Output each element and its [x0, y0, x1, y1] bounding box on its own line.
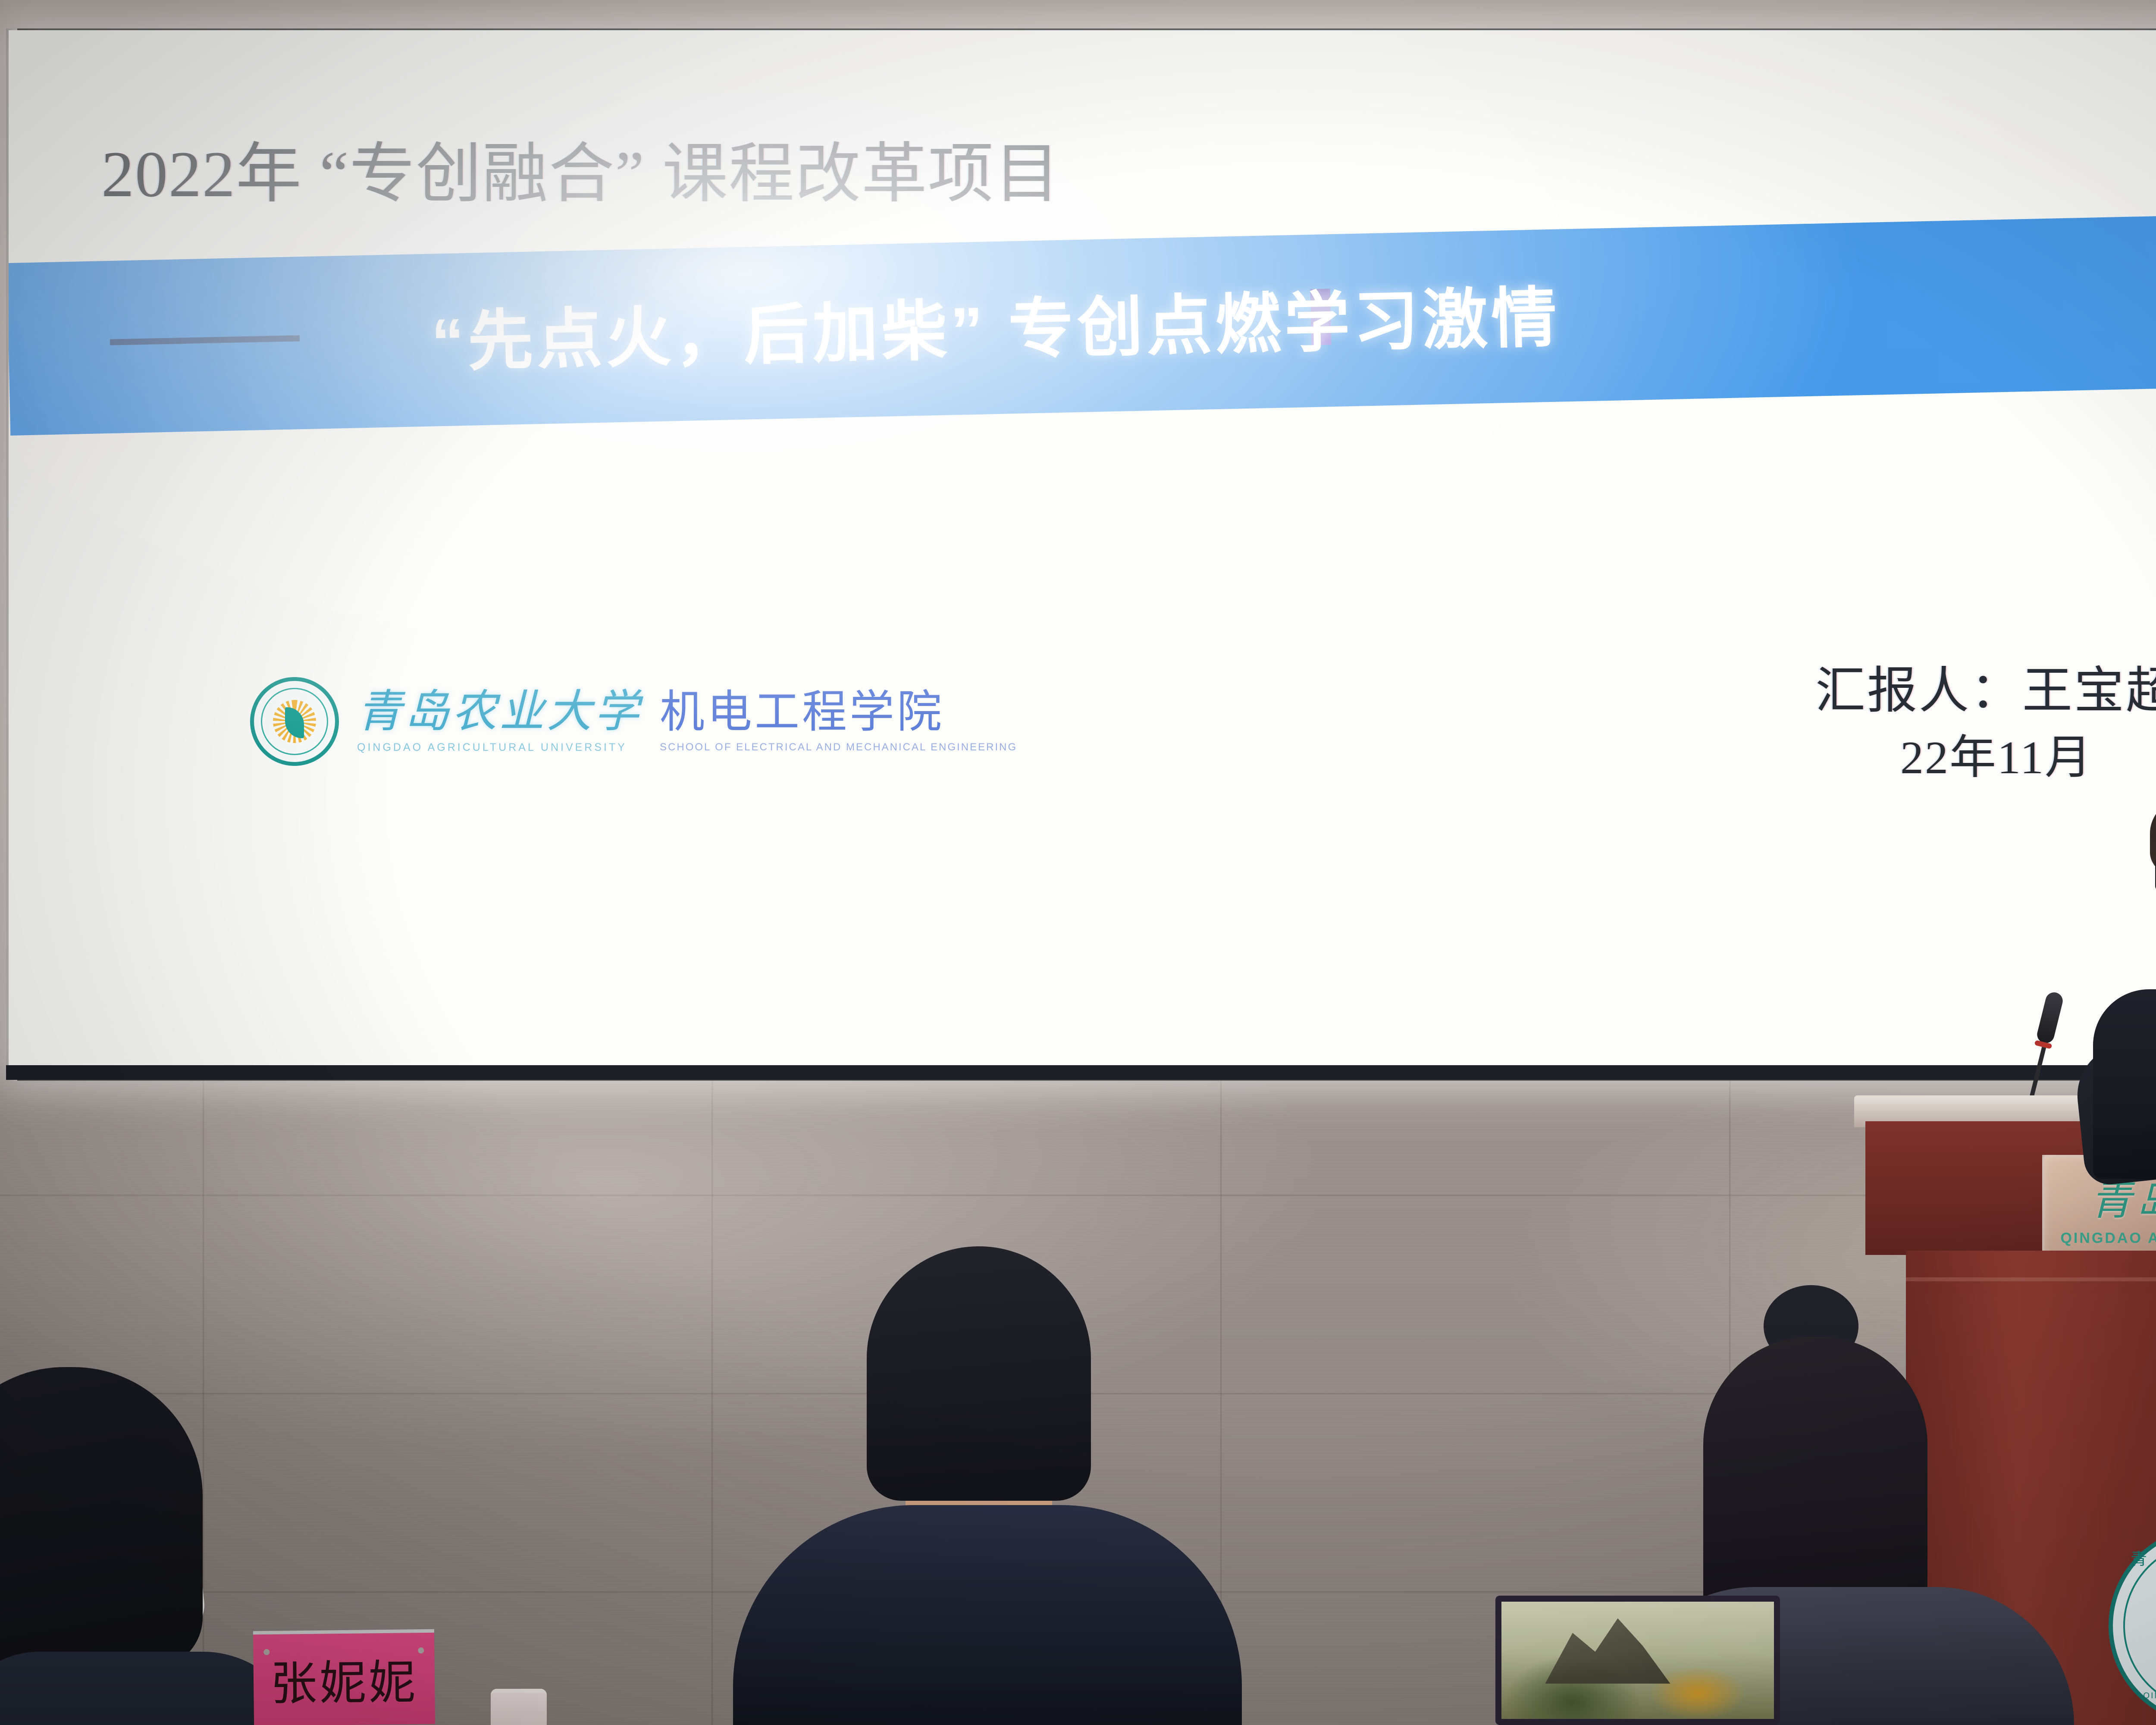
audience-center-body	[733, 1505, 1242, 1725]
university-name-block: 青岛农业大学 QINGDAO AGRICULTURAL UNIVERSITY	[357, 690, 642, 754]
lectern-plaque-en: QINGDAO AGRICULTURAL UNIVERSITY	[2060, 1230, 2156, 1247]
speaker-torso	[2093, 989, 2156, 1179]
presenter-name: 汇报人：王宝超	[1673, 664, 2156, 719]
projection-screen-bottom-edge	[6, 1065, 2156, 1080]
desk-nameplate-text: 张妮妮	[270, 1645, 418, 1714]
seal-ring-text-en: QINGDAO AGRICULTURAL UNIVERSITY	[2113, 1691, 2156, 1710]
audience-member-center	[664, 1246, 1311, 1725]
tablet-device[interactable]	[1495, 1596, 1780, 1725]
university-name-cn: 青岛农业大学	[357, 690, 642, 734]
seal-ring-text-cn: 青岛农业大学	[2113, 1546, 2156, 1569]
audience-center-hair	[867, 1246, 1091, 1501]
water-cup-icon	[491, 1689, 547, 1725]
department-name-cn: 机电工程学院	[660, 690, 1017, 734]
seal-leaf-icon	[285, 707, 304, 738]
lectern-university-seal-icon: 青岛农业大学 A 1951 QINGDAO AGRICULTURAL UNIVE…	[2109, 1527, 2156, 1725]
slide-title: 2022年 “专创融合” 课程改革项目	[101, 132, 1654, 217]
department-name-block: 机电工程学院 SCHOOL OF ELECTRICAL AND MECHANIC…	[660, 690, 1017, 753]
lectern-plaque-cn: 青岛农业大学	[2090, 1180, 2156, 1221]
speaker-figure	[2074, 759, 2156, 1147]
tablet-screen-landscape-image	[1501, 1602, 1774, 1719]
audience-member-left	[0, 1367, 263, 1725]
department-name-en: SCHOOL OF ELECTRICAL AND MECHANICAL ENGI…	[660, 741, 1017, 753]
audience-left-hair	[0, 1367, 203, 1669]
university-seal-icon	[250, 677, 339, 766]
seal-sun-icon	[273, 700, 316, 743]
slide-logo-lockup: 青岛农业大学 QINGDAO AGRICULTURAL UNIVERSITY 机…	[250, 677, 1017, 766]
lecture-hall-scene: 2022年 “专创融合” 课程改革项目 “先点火，后加柴” 专创点燃学习激情 青…	[0, 0, 2156, 1725]
desk-nameplate: 张妮妮	[253, 1629, 435, 1725]
projection-screen[interactable]: 2022年 “专创融合” 课程改革项目 “先点火，后加柴” 专创点燃学习激情 青…	[9, 30, 2156, 1076]
university-name-en: QINGDAO AGRICULTURAL UNIVERSITY	[357, 741, 642, 754]
